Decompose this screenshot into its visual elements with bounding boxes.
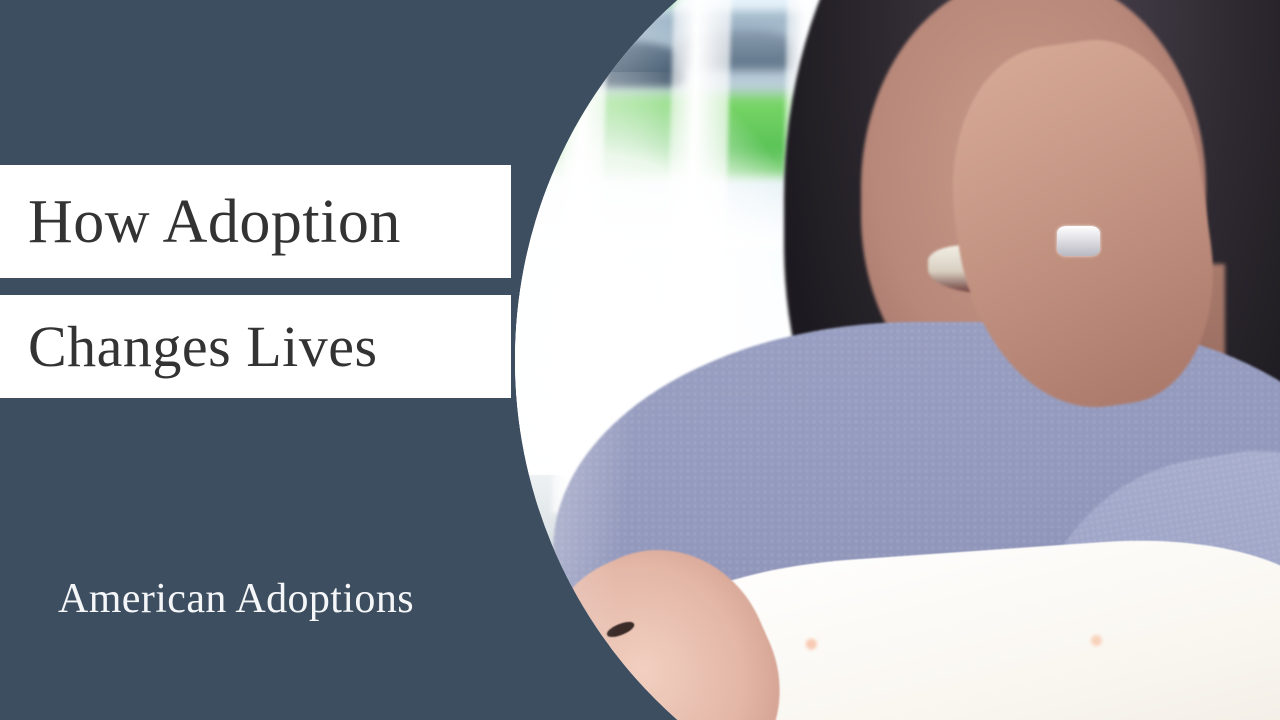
photo-content (515, 0, 1280, 720)
title-divider-band (0, 278, 506, 295)
wedding-ring (1057, 226, 1099, 257)
title-banner-line-2: Changes Lives (0, 295, 511, 398)
title-line-2: Changes Lives (0, 318, 378, 376)
photo-circle (515, 0, 1280, 720)
title-banner-line-1: How Adoption (0, 165, 511, 278)
title-line-1: How Adoption (0, 191, 401, 253)
brand-name: American Adoptions (58, 578, 414, 620)
video-thumbnail: How Adoption Changes Lives American Adop… (0, 0, 1280, 720)
